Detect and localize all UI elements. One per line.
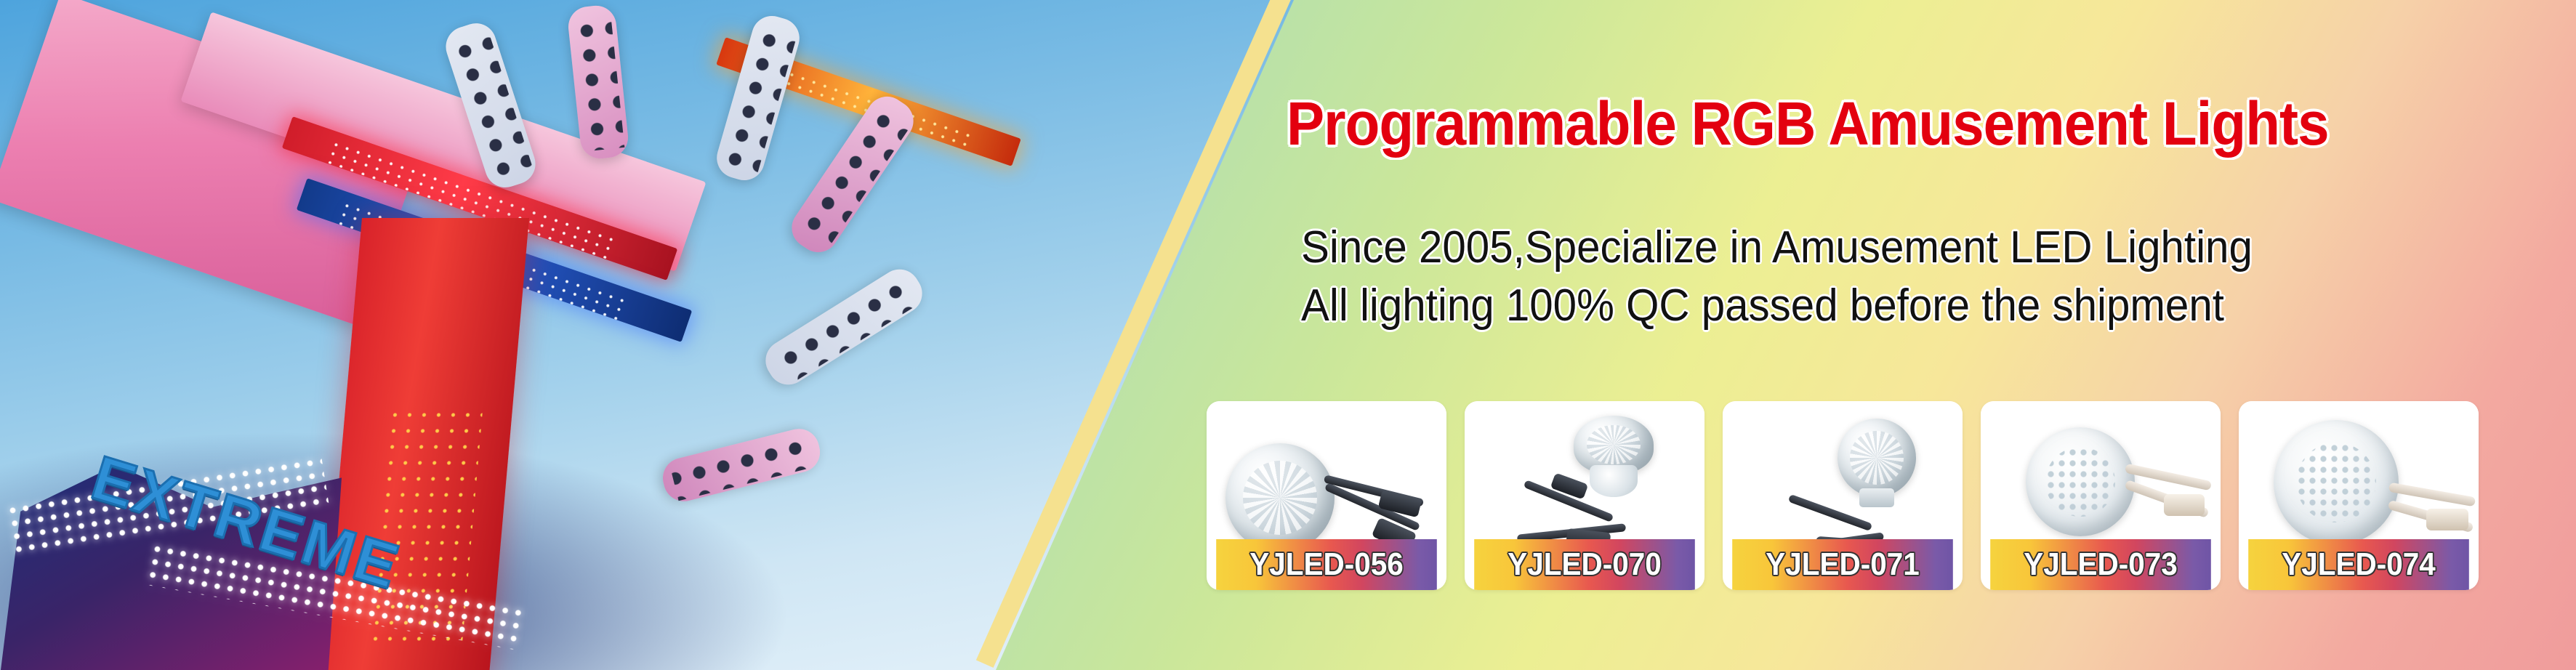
product-image bbox=[1207, 401, 1446, 539]
product-code-label: YJLED-073 bbox=[1990, 539, 2211, 590]
product-card[interactable]: YJLED-073 bbox=[1981, 401, 2221, 590]
page-title: Programmable RGB Amusement Lights bbox=[1287, 93, 2329, 154]
led-ball-icon bbox=[1838, 419, 1916, 497]
promo-banner: EXTREME Programmable RGB Amusement Light… bbox=[0, 0, 2576, 670]
led-ball-base bbox=[1859, 488, 1894, 507]
gondola-seats-4 bbox=[795, 104, 911, 251]
product-code-label: YJLED-056 bbox=[1216, 539, 1437, 590]
led-globe-icon bbox=[1225, 443, 1335, 539]
product-image bbox=[1981, 401, 2221, 539]
product-image bbox=[2239, 401, 2479, 539]
product-code-label: YJLED-071 bbox=[1732, 539, 1953, 590]
led-disc-wide-icon bbox=[2274, 420, 2399, 539]
product-card[interactable]: YJLED-071 bbox=[1723, 401, 1963, 590]
product-card-row: YJLED-056 YJLED-070 bbox=[1207, 401, 2479, 590]
product-image bbox=[1723, 401, 1963, 539]
connector-1 bbox=[2426, 509, 2468, 530]
product-code-label: YJLED-070 bbox=[1474, 539, 1695, 590]
marketing-content: Programmable RGB Amusement Lights Since … bbox=[1236, 0, 2576, 670]
gondola-seats-5 bbox=[771, 275, 918, 385]
subtitle-line-1: Since 2005,Specialize in Amusement LED L… bbox=[1301, 222, 2253, 273]
product-card[interactable]: YJLED-074 bbox=[2239, 401, 2479, 590]
connector-1 bbox=[2164, 494, 2205, 516]
led-bulb-base bbox=[1590, 465, 1638, 497]
subtitle-line-2: All lighting 100% QC passed before the s… bbox=[1301, 280, 2224, 331]
product-card[interactable]: YJLED-056 bbox=[1207, 401, 1446, 590]
product-image bbox=[1465, 401, 1704, 539]
led-disc-icon bbox=[2026, 427, 2135, 536]
product-card[interactable]: YJLED-070 bbox=[1465, 401, 1704, 590]
product-code-label: YJLED-074 bbox=[2248, 539, 2469, 590]
